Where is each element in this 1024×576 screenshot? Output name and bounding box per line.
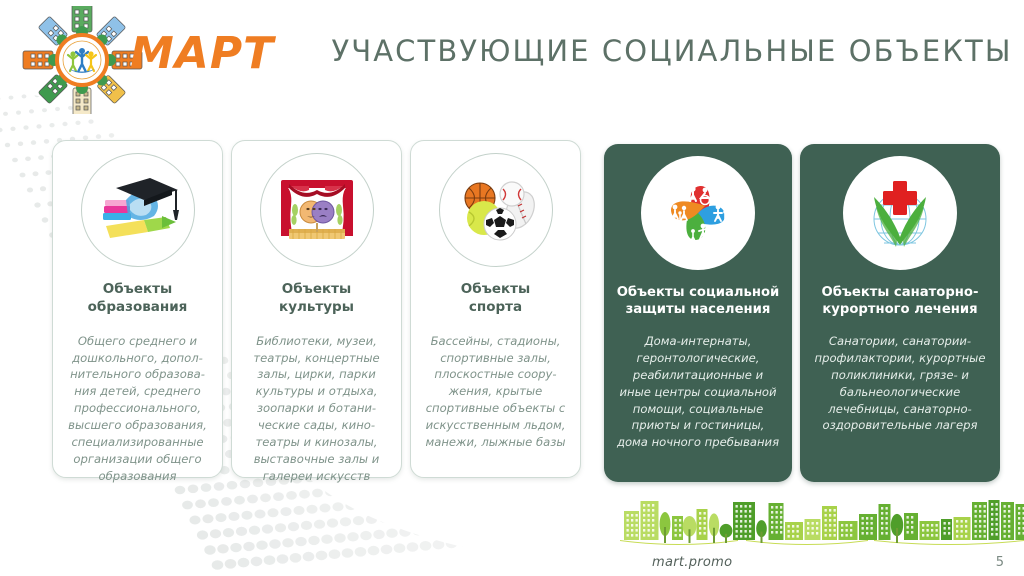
card-sanatorium-treatment-title-line1: Объекты санаторно-	[822, 285, 979, 300]
card-sport-title: Объекты спорта	[461, 281, 530, 317]
card-social-protection-body: Дома-интернаты, геронтологические, реаби…	[612, 333, 784, 451]
city-globe-logo-icon	[18, 6, 146, 114]
card-social-protection[interactable]: Объекты социальной защиты населения Дома…	[604, 144, 792, 482]
card-sanatorium-treatment[interactable]: Объекты санаторно- курортного лечения Са…	[800, 144, 1000, 482]
card-culture-title-line1: Объекты	[282, 281, 351, 297]
red-cross-globe-leaves-icon	[843, 156, 957, 270]
card-sport-title-line2: спорта	[469, 299, 522, 315]
card-sport-title-line1: Объекты	[461, 281, 530, 297]
card-education-title: Объекты образования	[88, 281, 188, 317]
card-social-protection-title-line1: Объекты социальной	[617, 285, 780, 300]
card-sanatorium-treatment-body: Санатории, санатории-профилактории, куро…	[808, 333, 992, 435]
card-sanatorium-treatment-title-line2: курортного лечения	[822, 302, 977, 317]
brand-logo[interactable]: МАРТ	[18, 6, 258, 114]
card-sport-body: Бассейны, стадионы, спортивные залы, пло…	[419, 333, 572, 451]
page-footer: mart.promo 5	[0, 486, 1024, 576]
card-culture-title-line2: культуры	[279, 299, 354, 315]
sports-balls-icon	[439, 153, 553, 267]
card-social-protection-title-line2: защиты населения	[626, 302, 771, 317]
graduation-cap-books-icon	[81, 153, 195, 267]
card-education-body: Общего среднего и дошкольного, допол-нит…	[61, 333, 214, 485]
card-culture[interactable]: Объекты культуры Библиотеки, музеи, теат…	[231, 140, 402, 478]
brand-logo-wordmark: МАРТ	[130, 32, 274, 76]
page-header: МАРТ УЧАСТВУЮЩИЕ СОЦИАЛЬНЫЕ ОБЪЕКТЫ	[0, 0, 1024, 120]
footer-site-label: mart.promo	[652, 555, 732, 570]
card-sport[interactable]: Объекты спорта Бассейны, стадионы, спорт…	[410, 140, 581, 478]
card-culture-body: Библиотеки, музеи, театры, концертные за…	[240, 333, 393, 485]
card-education[interactable]: Объекты образования Общего среднего и до…	[52, 140, 223, 478]
four-hearts-people-icon	[641, 156, 755, 270]
green-city-skyline-icon	[620, 494, 1024, 548]
footer-page-number: 5	[996, 555, 1004, 570]
card-education-title-line1: Объекты	[103, 281, 172, 297]
card-culture-title: Объекты культуры	[279, 281, 354, 317]
card-education-title-line2: образования	[88, 299, 188, 315]
theatre-stage-masks-icon	[260, 153, 374, 267]
page-title: УЧАСТВУЮЩИЕ СОЦИАЛЬНЫЕ ОБЪЕКТЫ	[330, 34, 1014, 68]
card-sanatorium-treatment-title: Объекты санаторно- курортного лечения	[822, 284, 979, 319]
card-social-protection-title: Объекты социальной защиты населения	[617, 284, 780, 319]
